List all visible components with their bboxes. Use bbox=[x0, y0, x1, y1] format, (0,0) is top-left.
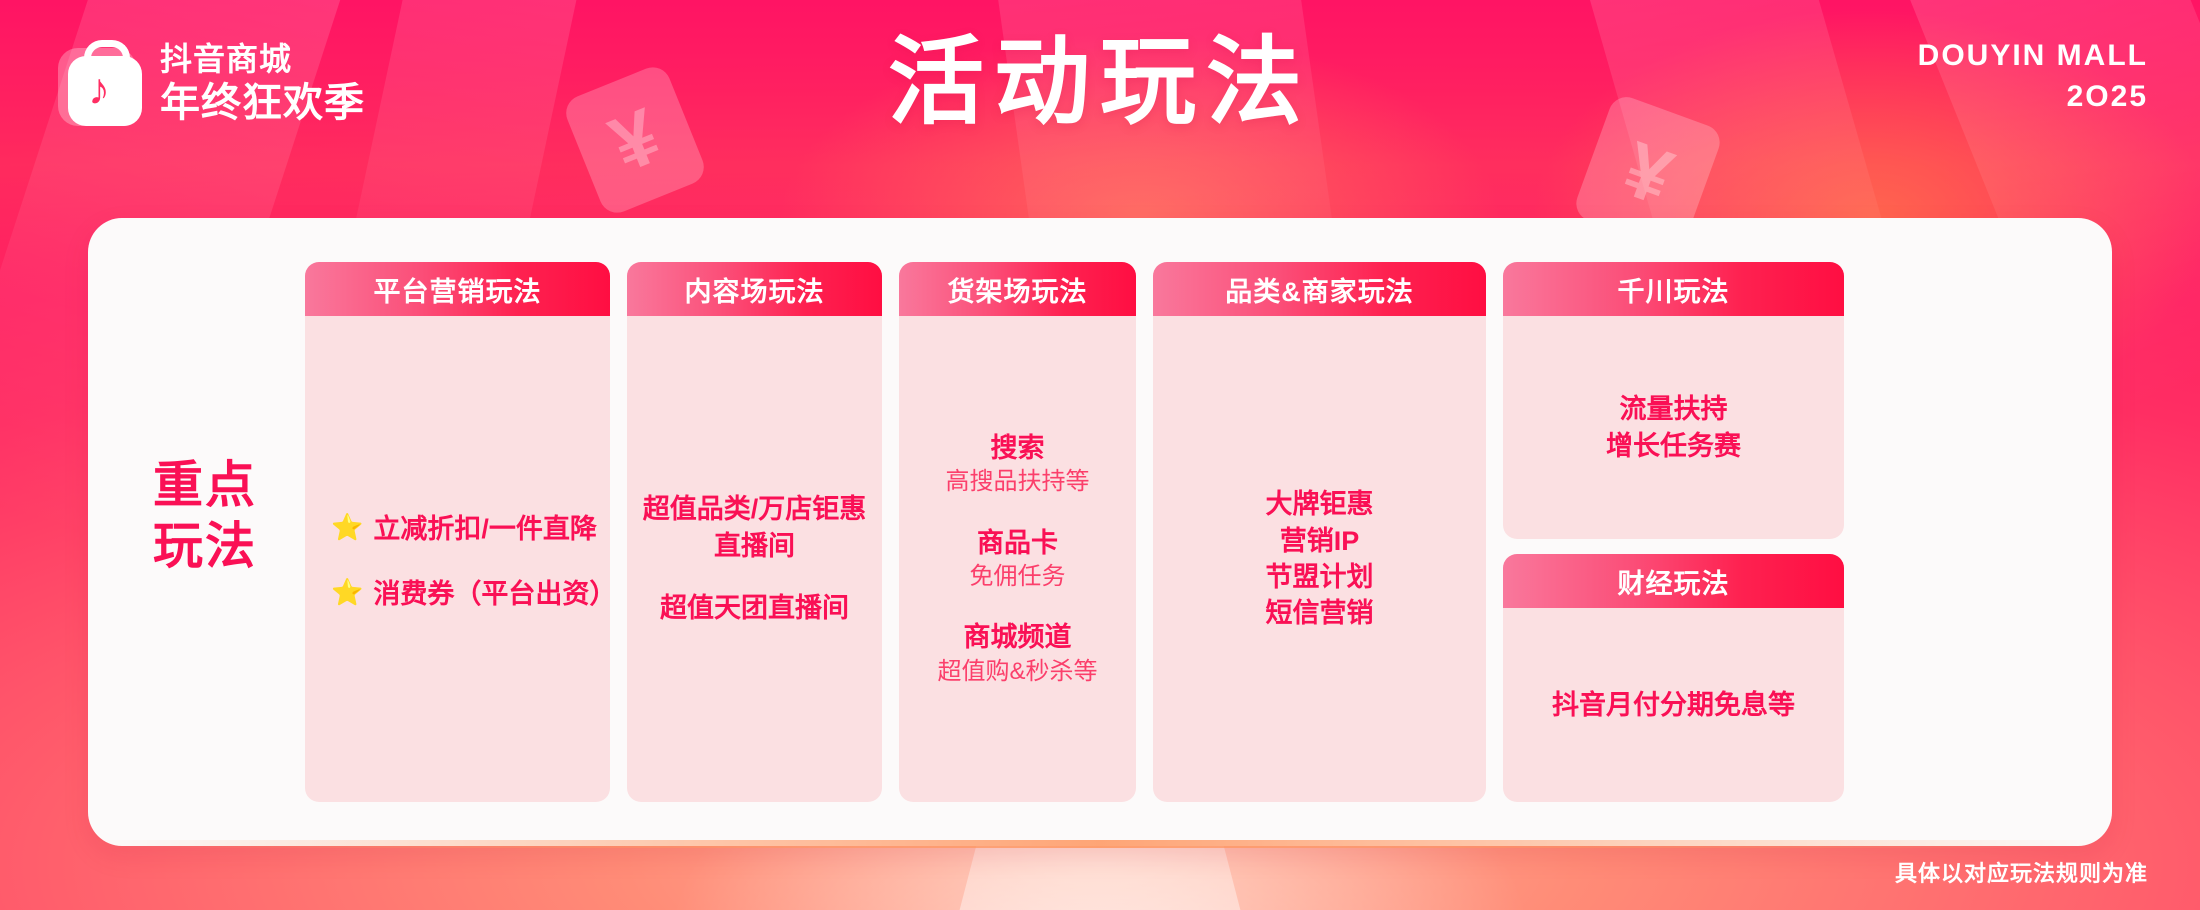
card-header: 货架场玩法 bbox=[899, 262, 1136, 316]
list-item-label: 消费券（平台出资） bbox=[373, 572, 610, 611]
card-line: 节盟计划 bbox=[1266, 559, 1374, 595]
card-subline: 高搜品扶持等 bbox=[946, 466, 1090, 498]
play-columns: 平台营销玩法 ⭐ 立减折扣/一件直降 ⭐ 消费券（平台出资） 内容场玩法 超值品… bbox=[305, 262, 2070, 802]
star-icon: ⭐ bbox=[331, 514, 363, 540]
column-shelf-field: 货架场玩法 搜索 高搜品扶持等 商品卡 免佣任务 商城频道 超值购&秒杀等 bbox=[899, 262, 1136, 802]
column-content-field: 内容场玩法 超值品类/万店钜惠 直播间 超值天团直播间 bbox=[627, 262, 882, 802]
card-body: ⭐ 立减折扣/一件直降 ⭐ 消费券（平台出资） bbox=[305, 316, 610, 802]
column-platform-marketing: 平台营销玩法 ⭐ 立减折扣/一件直降 ⭐ 消费券（平台出资） bbox=[305, 262, 610, 802]
card-group: 商品卡 免佣任务 bbox=[970, 525, 1066, 594]
card-header: 品类&商家玩法 bbox=[1153, 262, 1486, 316]
card-line: 直播间 bbox=[643, 528, 867, 564]
card-group: 超值品类/万店钜惠 直播间 bbox=[643, 491, 867, 564]
card-body: 抖音月付分期免息等 bbox=[1503, 608, 1844, 802]
card-line: 超值天团直播间 bbox=[660, 590, 849, 626]
card-content-field[interactable]: 内容场玩法 超值品类/万店钜惠 直播间 超值天团直播间 bbox=[627, 262, 882, 802]
focus-label: 重点 玩法 bbox=[120, 455, 290, 577]
card-line: 短信营销 bbox=[1266, 595, 1374, 631]
brand-english-year: 2O25 bbox=[1918, 77, 2148, 118]
star-icon: ⭐ bbox=[331, 579, 363, 605]
card-body: 搜索 高搜品扶持等 商品卡 免佣任务 商城频道 超值购&秒杀等 bbox=[899, 316, 1136, 802]
column-qianchuan-finance: 千川玩法 流量扶持 增长任务赛 财经玩法 抖音月付分期免息等 bbox=[1503, 262, 1844, 802]
card-body: 超值品类/万店钜惠 直播间 超值天团直播间 bbox=[627, 316, 882, 802]
card-body: 大牌钜惠 营销IP 节盟计划 短信营销 bbox=[1153, 316, 1486, 802]
card-line: 大牌钜惠 bbox=[1266, 486, 1374, 522]
card-finance[interactable]: 财经玩法 抖音月付分期免息等 bbox=[1503, 554, 1844, 802]
card-header: 千川玩法 bbox=[1503, 262, 1844, 316]
card-subline: 免佣任务 bbox=[970, 561, 1066, 593]
card-platform-marketing[interactable]: 平台营销玩法 ⭐ 立减折扣/一件直降 ⭐ 消费券（平台出资） bbox=[305, 262, 610, 802]
card-header: 平台营销玩法 bbox=[305, 262, 610, 316]
card-group: 超值天团直播间 bbox=[660, 590, 849, 626]
card-line: 商品卡 bbox=[970, 525, 1066, 561]
page-title: 活动玩法 bbox=[0, 30, 2200, 136]
card-group: 搜索 高搜品扶持等 bbox=[946, 430, 1090, 499]
list-item[interactable]: ⭐ 消费券（平台出资） bbox=[317, 572, 610, 611]
card-line: 增长任务赛 bbox=[1606, 428, 1741, 464]
brand-english-line1: DOUYIN MALL bbox=[1918, 36, 2148, 77]
card-line: 超值品类/万店钜惠 bbox=[643, 491, 867, 527]
card-shelf-field[interactable]: 货架场玩法 搜索 高搜品扶持等 商品卡 免佣任务 商城频道 超值购&秒杀等 bbox=[899, 262, 1136, 802]
card-header: 内容场玩法 bbox=[627, 262, 882, 316]
card-subline: 超值购&秒杀等 bbox=[937, 656, 1097, 688]
list-item-label: 立减折扣/一件直降 bbox=[373, 507, 597, 546]
card-line: 营销IP bbox=[1280, 523, 1360, 559]
card-category-merchant[interactable]: 品类&商家玩法 大牌钜惠 营销IP 节盟计划 短信营销 bbox=[1153, 262, 1486, 802]
card-line: 商城频道 bbox=[937, 619, 1097, 655]
list-item[interactable]: ⭐ 立减折扣/一件直降 bbox=[317, 507, 597, 546]
card-line: 流量扶持 bbox=[1620, 391, 1728, 427]
card-body: 流量扶持 增长任务赛 bbox=[1503, 316, 1844, 539]
card-line: 抖音月付分期免息等 bbox=[1552, 687, 1795, 723]
panel-bottom-edge bbox=[92, 840, 2108, 848]
column-category-merchant: 品类&商家玩法 大牌钜惠 营销IP 节盟计划 短信营销 bbox=[1153, 262, 1486, 802]
card-line: 搜索 bbox=[946, 430, 1090, 466]
card-header: 财经玩法 bbox=[1503, 554, 1844, 608]
brand-english: DOUYIN MALL 2O25 bbox=[1918, 36, 2148, 117]
focus-label-line2: 玩法 bbox=[120, 516, 290, 577]
footnote: 具体以对应玩法规则为准 bbox=[1895, 856, 2148, 888]
card-qianchuan[interactable]: 千川玩法 流量扶持 增长任务赛 bbox=[1503, 262, 1844, 539]
card-group: 商城频道 超值购&秒杀等 bbox=[937, 619, 1097, 688]
focus-label-line1: 重点 bbox=[120, 455, 290, 516]
